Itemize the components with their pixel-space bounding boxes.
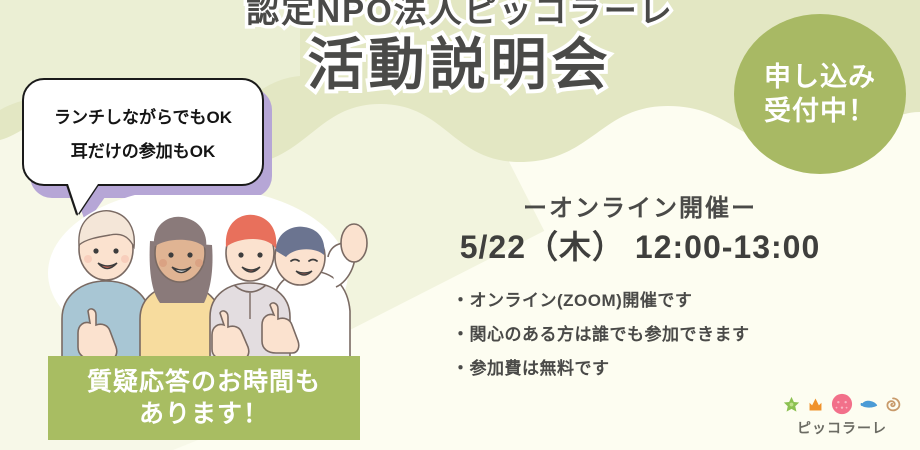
crown-icon (807, 396, 824, 413)
event-datetime: 5/22（木） 12:00-13:00 (420, 222, 860, 268)
snail-icon (885, 396, 901, 412)
bubble-line-1: ランチしながらでもOK (54, 103, 232, 128)
list-item: ・関心のある方は誰でも参加できます (452, 320, 750, 345)
event-format-label: ーオンライン開催ー (430, 188, 850, 223)
face-circle-icon (831, 393, 853, 415)
qa-time-banner: 質疑応答のお時間も あります！ (48, 356, 360, 440)
banner-line-2: あります！ (139, 400, 269, 429)
application-status-badge[interactable]: 申し込み 受付中！ (734, 14, 906, 174)
event-details-list: ・オンライン(ZOOM)開催です ・関心のある方は誰でも参加できます ・参加費は… (452, 286, 750, 379)
bubble-line-2: 耳だけの参加もOK (71, 137, 216, 162)
list-item: ・オンライン(ZOOM)開催です (452, 286, 750, 311)
badge-line-2: 受付中！ (764, 96, 876, 126)
speech-bubble-group: ランチしながらでもOK 耳だけの参加もOK (22, 78, 274, 213)
whale-icon (860, 397, 878, 411)
badge-line-1: 申し込み (764, 62, 876, 92)
logo-icon-row (778, 392, 906, 416)
logo-name: ピッコラーレ (778, 418, 906, 438)
poster-canvas: 認定NPO法人ピッコラーレ 活動説明会 申し込み 受付中！ ランチしながらでもO… (0, 0, 920, 450)
star-icon (783, 396, 800, 413)
four-people-thumbs-up-illustration (48, 195, 378, 375)
banner-line-1: 質疑応答のお時間も (87, 368, 321, 397)
list-item: ・参加費は無料です (452, 354, 750, 379)
organization-logo[interactable]: ピッコラーレ (778, 392, 906, 444)
speech-bubble: ランチしながらでもOK 耳だけの参加もOK (22, 78, 264, 186)
